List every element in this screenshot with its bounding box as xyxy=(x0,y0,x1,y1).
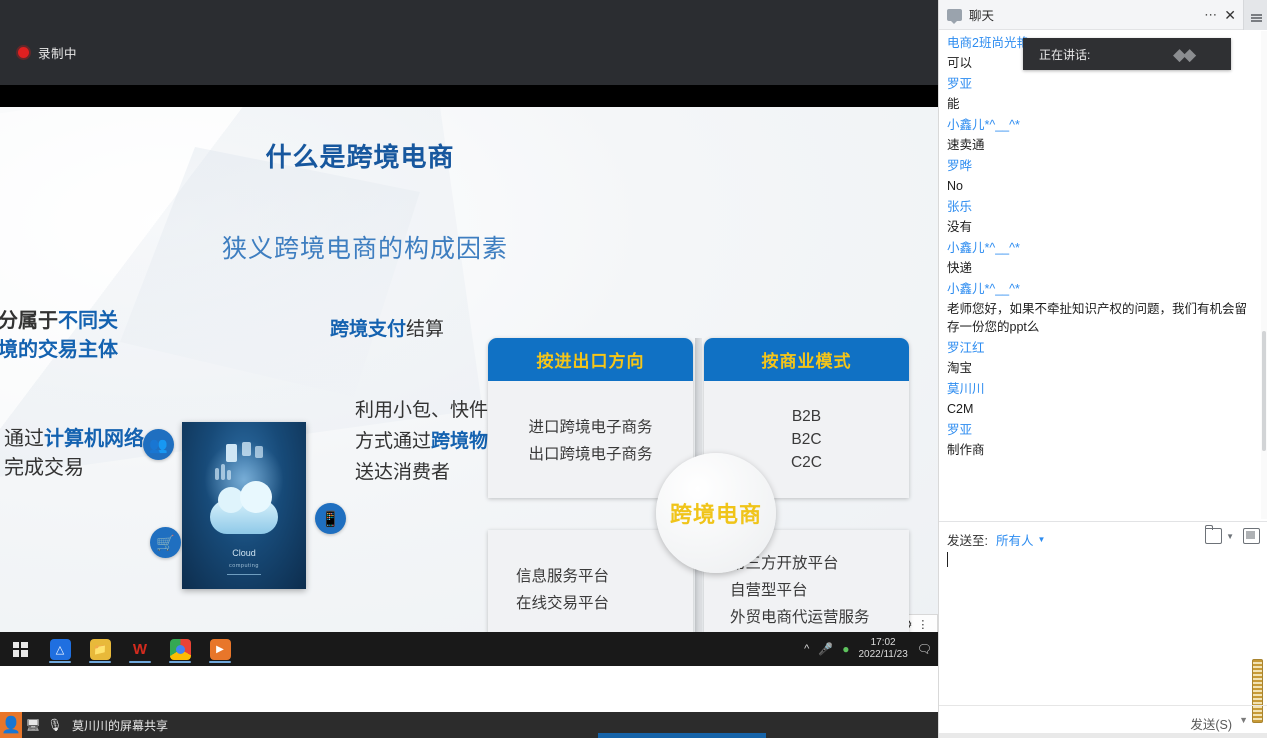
bottom-strip xyxy=(939,733,1267,738)
chat-bubble-icon xyxy=(947,9,962,21)
chat-scrollbar[interactable] xyxy=(1261,31,1267,519)
shared-screen-region: 录制中 什么是跨境电商 狭义跨境电商的构成因素 分属于不同关境的交易主体 通过计… xyxy=(0,0,938,738)
active-indicator xyxy=(169,661,191,663)
cloud-caption-main: Cloud xyxy=(232,548,256,558)
chat-scrollbar-thumb[interactable] xyxy=(1262,331,1266,451)
device-icon xyxy=(226,444,237,462)
wps-icon: W xyxy=(130,639,151,660)
screenshot-icon[interactable] xyxy=(1243,528,1260,544)
screen-share-icon[interactable]: 🖥 xyxy=(22,712,44,738)
chat-message-list[interactable]: 电商2班尚光艳 可以 罗亚 能 小鑫儿*^__^* 速卖通 罗晔 No 张乐 没… xyxy=(939,30,1267,520)
active-indicator xyxy=(89,661,111,663)
microphone-icon[interactable]: 🎤 xyxy=(818,642,833,656)
message-sender: 小鑫儿*^__^* xyxy=(939,279,1267,299)
diagram-center-label: 跨境电商 xyxy=(656,453,776,573)
recording-indicator[interactable]: 录制中 xyxy=(18,43,77,62)
close-icon[interactable]: ✕ xyxy=(1222,7,1243,24)
active-indicator xyxy=(129,661,151,663)
message-text: C2M xyxy=(939,399,1267,420)
slide-subtitle: 狭义跨境电商的构成因素 xyxy=(0,229,730,265)
letterbox-bar xyxy=(0,85,938,107)
people-icon: 👥 xyxy=(143,429,174,460)
chevron-down-icon[interactable]: ▼ xyxy=(1226,532,1234,541)
ime-icon-more[interactable]: ⋮ xyxy=(917,618,928,631)
presentation-slide: 什么是跨境电商 狭义跨境电商的构成因素 分属于不同关境的交易主体 通过计算机网络… xyxy=(0,107,938,632)
message-text: 能 xyxy=(939,94,1267,115)
screen-root: 录制中 什么是跨境电商 狭义跨境电商的构成因素 分属于不同关境的交易主体 通过计… xyxy=(0,0,1267,738)
speaking-indicator: 正在讲话: ◆◆ xyxy=(1023,38,1231,70)
chat-header-actions: ⋯ ✕ xyxy=(1200,0,1267,30)
windows-logo-icon xyxy=(13,642,28,657)
chevron-down-icon[interactable]: ▼ xyxy=(1239,715,1248,725)
cloud-caption-sub: computing xyxy=(229,563,259,569)
taskbar-item-file-explorer[interactable]: 📁 xyxy=(86,634,114,664)
speaking-label: 正在讲话: xyxy=(1039,46,1090,63)
cloud-computing-image: Cloud computing xyxy=(182,422,306,589)
record-dot-icon xyxy=(18,47,29,58)
taskbar-item-meeting-app[interactable]: △ xyxy=(46,634,74,664)
windows-taskbar: △ 📁 W ▶ xyxy=(0,632,938,666)
device-icon xyxy=(242,442,251,456)
quadrant-item: 外贸电商代运营服务 xyxy=(722,605,878,627)
quadrant-item: 信息服务平台 xyxy=(508,564,617,586)
shopping-cart-icon: 🛒 xyxy=(150,527,181,558)
quadrant-top-left: 按进出口方向 进口跨境电子商务 出口跨境电子商务 xyxy=(488,338,693,498)
message-sender: 罗江红 xyxy=(939,338,1267,358)
taskbar-item-wps-office[interactable]: W xyxy=(126,634,154,664)
quadrant-header: 按进出口方向 xyxy=(488,338,693,381)
compose-tools: ▼ xyxy=(1205,528,1260,544)
recording-bar: 录制中 xyxy=(0,0,938,85)
chat-compose-area: 发送至: 所有人 ▼ ▼ xyxy=(939,521,1267,717)
chat-panel: 聊天 ⋯ ✕ 电商2班尚光艳 可以 罗亚 能 小鑫儿*^__^* 速卖通 罗晔 … xyxy=(938,0,1267,738)
more-options-icon[interactable]: ⋯ xyxy=(1200,7,1222,23)
folder-icon: 📁 xyxy=(90,639,111,660)
bar-icon xyxy=(221,464,225,480)
message-text: 淘宝 xyxy=(939,358,1267,379)
message-sender: 罗亚 xyxy=(939,420,1267,440)
screen-share-bar-content: 👤 🖥 🎙 莫川川的屏幕共享 xyxy=(0,712,168,738)
send-to-value[interactable]: 所有人 xyxy=(996,530,1034,549)
notification-icon[interactable]: 🗨 xyxy=(917,642,932,656)
send-to-label: 发送至: xyxy=(947,530,988,549)
message-sender: 小鑫儿*^__^* xyxy=(939,115,1267,135)
tray-time: 17:02 xyxy=(871,637,896,648)
text-caret xyxy=(947,552,948,567)
message-text: No xyxy=(939,176,1267,197)
file-attach-icon[interactable] xyxy=(1205,528,1222,544)
active-indicator xyxy=(209,661,231,663)
tray-date: 2022/11/23 xyxy=(858,649,907,660)
mobile-phone-icon: 📱 xyxy=(315,503,346,534)
cloud-icon xyxy=(210,500,278,534)
quadrant-item: 自营型平台 xyxy=(722,578,816,600)
taskbar-item-presentation[interactable]: ▶ xyxy=(206,634,234,664)
quadrant-item: B2C xyxy=(783,431,829,449)
presentation-icon: ▶ xyxy=(210,639,231,660)
chevron-down-icon[interactable]: ▼ xyxy=(1038,535,1046,544)
bar-icon xyxy=(215,468,219,480)
message-sender: 莫川川 xyxy=(939,379,1267,399)
meeting-app-icon: △ xyxy=(50,639,71,660)
cloud-caption: Cloud computing xyxy=(182,548,306,572)
recording-label: 录制中 xyxy=(38,43,77,62)
message-text: 制作商 xyxy=(939,440,1267,461)
quadrant-bottom-left: 信息服务平台 在线交易平台 按平台服务类型 xyxy=(488,530,693,632)
factor-bottom-left: 通过计算机网络完成交易 xyxy=(4,425,154,483)
quadrant-body: 信息服务平台 在线交易平台 xyxy=(488,530,693,632)
screen-share-label: 莫川川的屏幕共享 xyxy=(72,717,168,734)
quadrant-item: 出口跨境电子商务 xyxy=(520,442,660,464)
quadrant-diagram: 按进出口方向 进口跨境电子商务 出口跨境电子商务 按商业模式 B2B B2C C… xyxy=(488,338,918,632)
microphone-icon[interactable]: 🎙 xyxy=(44,712,66,738)
message-text: 老师您好，如果不牵扯知识产权的问题，我们有机会留存一份您的ppt么 xyxy=(939,299,1267,338)
audio-wave-icon: ◆◆ xyxy=(1173,45,1217,63)
screen-share-bar: 👤 🖥 🎙 莫川川的屏幕共享 xyxy=(0,712,938,738)
shield-icon[interactable]: ● xyxy=(842,642,849,656)
message-input[interactable] xyxy=(947,552,1252,576)
system-tray: ^ 🎤 ● 17:02 2022/11/23 🗨 xyxy=(804,632,932,666)
active-indicator xyxy=(49,661,71,663)
send-button[interactable]: 发送(S) xyxy=(1190,714,1232,733)
quadrant-item: C2C xyxy=(783,454,830,472)
message-sender: 罗亚 xyxy=(939,74,1267,94)
message-text: 快递 xyxy=(939,258,1267,279)
chrome-icon xyxy=(170,639,191,660)
factor-top-left: 分属于不同关境的交易主体 xyxy=(0,307,118,365)
quadrant-item: 在线交易平台 xyxy=(508,591,617,613)
message-sender: 张乐 xyxy=(939,197,1267,217)
quadrant-item: 进口跨境电子商务 xyxy=(520,415,660,437)
bar-icon xyxy=(227,470,231,480)
chevron-up-icon[interactable]: ^ xyxy=(804,643,809,655)
share-highlight-strip xyxy=(598,733,766,738)
taskbar-icons: △ 📁 W ▶ xyxy=(6,632,234,666)
chat-title: 聊天 xyxy=(969,5,994,24)
participant-icon[interactable]: 👤 xyxy=(0,712,22,738)
slide-title: 什么是跨境电商 xyxy=(0,137,720,174)
quadrant-header: 按商业模式 xyxy=(704,338,909,381)
message-text: 没有 xyxy=(939,217,1267,238)
taskbar-item-chrome[interactable] xyxy=(166,634,194,664)
clock[interactable]: 17:02 2022/11/23 xyxy=(858,637,907,661)
message-sender: 罗晔 xyxy=(939,156,1267,176)
device-icon xyxy=(255,446,263,458)
message-sender: 小鑫儿*^__^* xyxy=(939,238,1267,258)
quadrant-body: 进口跨境电子商务 出口跨境电子商务 xyxy=(488,381,693,498)
quadrant-item: B2B xyxy=(784,408,829,426)
chat-header: 聊天 ⋯ ✕ xyxy=(939,0,1267,30)
divider xyxy=(227,574,261,575)
message-text: 速卖通 xyxy=(939,135,1267,156)
start-button[interactable] xyxy=(6,634,34,664)
hamburger-menu-icon[interactable] xyxy=(1243,0,1267,30)
